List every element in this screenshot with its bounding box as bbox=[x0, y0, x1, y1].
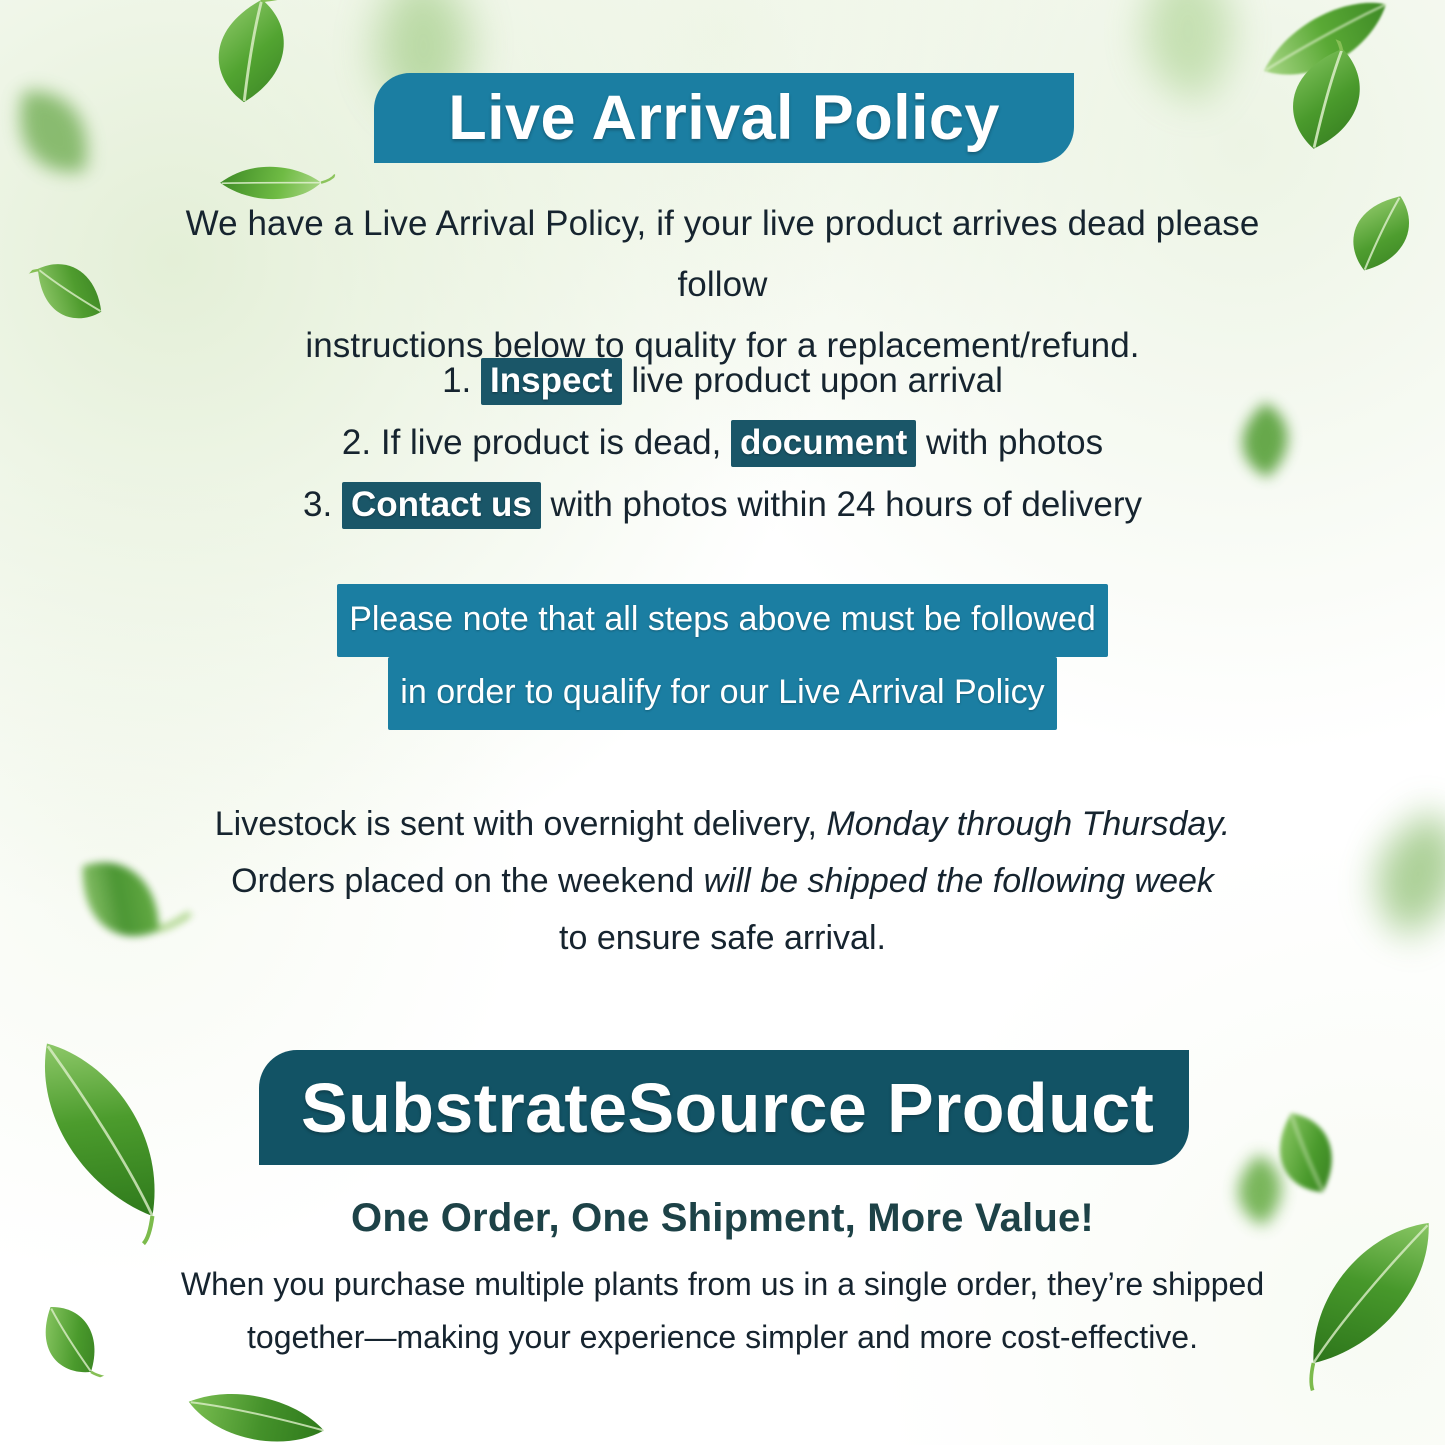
substratesource-product-title: SubstrateSource Product bbox=[301, 1068, 1154, 1148]
step-item-3: 3. Contact us with photos within 24 hour… bbox=[180, 474, 1265, 536]
shipping-schedule-note: Livestock is sent with overnight deliver… bbox=[200, 796, 1245, 967]
step-2-number: 2. bbox=[342, 423, 371, 462]
step-2-before: If live product is dead, bbox=[381, 423, 721, 462]
value-paragraph: When you purchase multiple plants from u… bbox=[150, 1258, 1295, 1364]
poster-canvas: Live Arrival Policy We have a Live Arriv… bbox=[0, 0, 1445, 1445]
step-1-number: 1. bbox=[442, 361, 471, 400]
policy-note-line-1: Please note that all steps above must be… bbox=[337, 584, 1108, 657]
live-arrival-policy-banner: Live Arrival Policy bbox=[374, 73, 1074, 163]
value-line-2: together—making your experience simpler … bbox=[150, 1311, 1295, 1364]
shipping-line-2-plain: Orders placed on the weekend bbox=[231, 862, 704, 900]
step-3-after: with photos within 24 hours of delivery bbox=[551, 485, 1142, 524]
shipping-line-2-italic: will be shipped the following week bbox=[704, 862, 1214, 900]
shipping-line-1-italic: Monday through Thursday. bbox=[826, 805, 1230, 843]
policy-note-line-2: in order to qualify for our Live Arrival… bbox=[388, 657, 1056, 730]
shipping-line-3: to ensure safe arrival. bbox=[200, 910, 1245, 967]
substratesource-product-banner: SubstrateSource Product bbox=[259, 1050, 1189, 1165]
shipping-line-2: Orders placed on the weekend will be shi… bbox=[200, 853, 1245, 910]
intro-line-1: We have a Live Arrival Policy, if your l… bbox=[140, 193, 1305, 315]
step-2-after: with photos bbox=[926, 423, 1103, 462]
live-arrival-policy-title: Live Arrival Policy bbox=[448, 82, 1000, 154]
step-item-1: 1. Inspect live product upon arrival bbox=[180, 350, 1265, 412]
step-3-number: 3. bbox=[303, 485, 332, 524]
step-2-highlight: document bbox=[731, 420, 916, 467]
step-item-2: 2. If live product is dead, document wit… bbox=[180, 412, 1265, 474]
step-1-after: live product upon arrival bbox=[631, 361, 1003, 400]
shipping-line-1: Livestock is sent with overnight deliver… bbox=[200, 796, 1245, 853]
intro-paragraph: We have a Live Arrival Policy, if your l… bbox=[140, 193, 1305, 376]
shipping-line-1-plain: Livestock is sent with overnight deliver… bbox=[215, 805, 827, 843]
step-3-highlight: Contact us bbox=[342, 482, 541, 529]
poster-content: Live Arrival Policy We have a Live Arriv… bbox=[0, 0, 1445, 1445]
value-heading: One Order, One Shipment, More Value! bbox=[180, 1192, 1265, 1244]
step-1-highlight: Inspect bbox=[481, 358, 622, 405]
value-line-1: When you purchase multiple plants from u… bbox=[150, 1258, 1295, 1311]
steps-list: 1. Inspect live product upon arrival 2. … bbox=[180, 350, 1265, 536]
policy-note-block: Please note that all steps above must be… bbox=[180, 584, 1265, 730]
